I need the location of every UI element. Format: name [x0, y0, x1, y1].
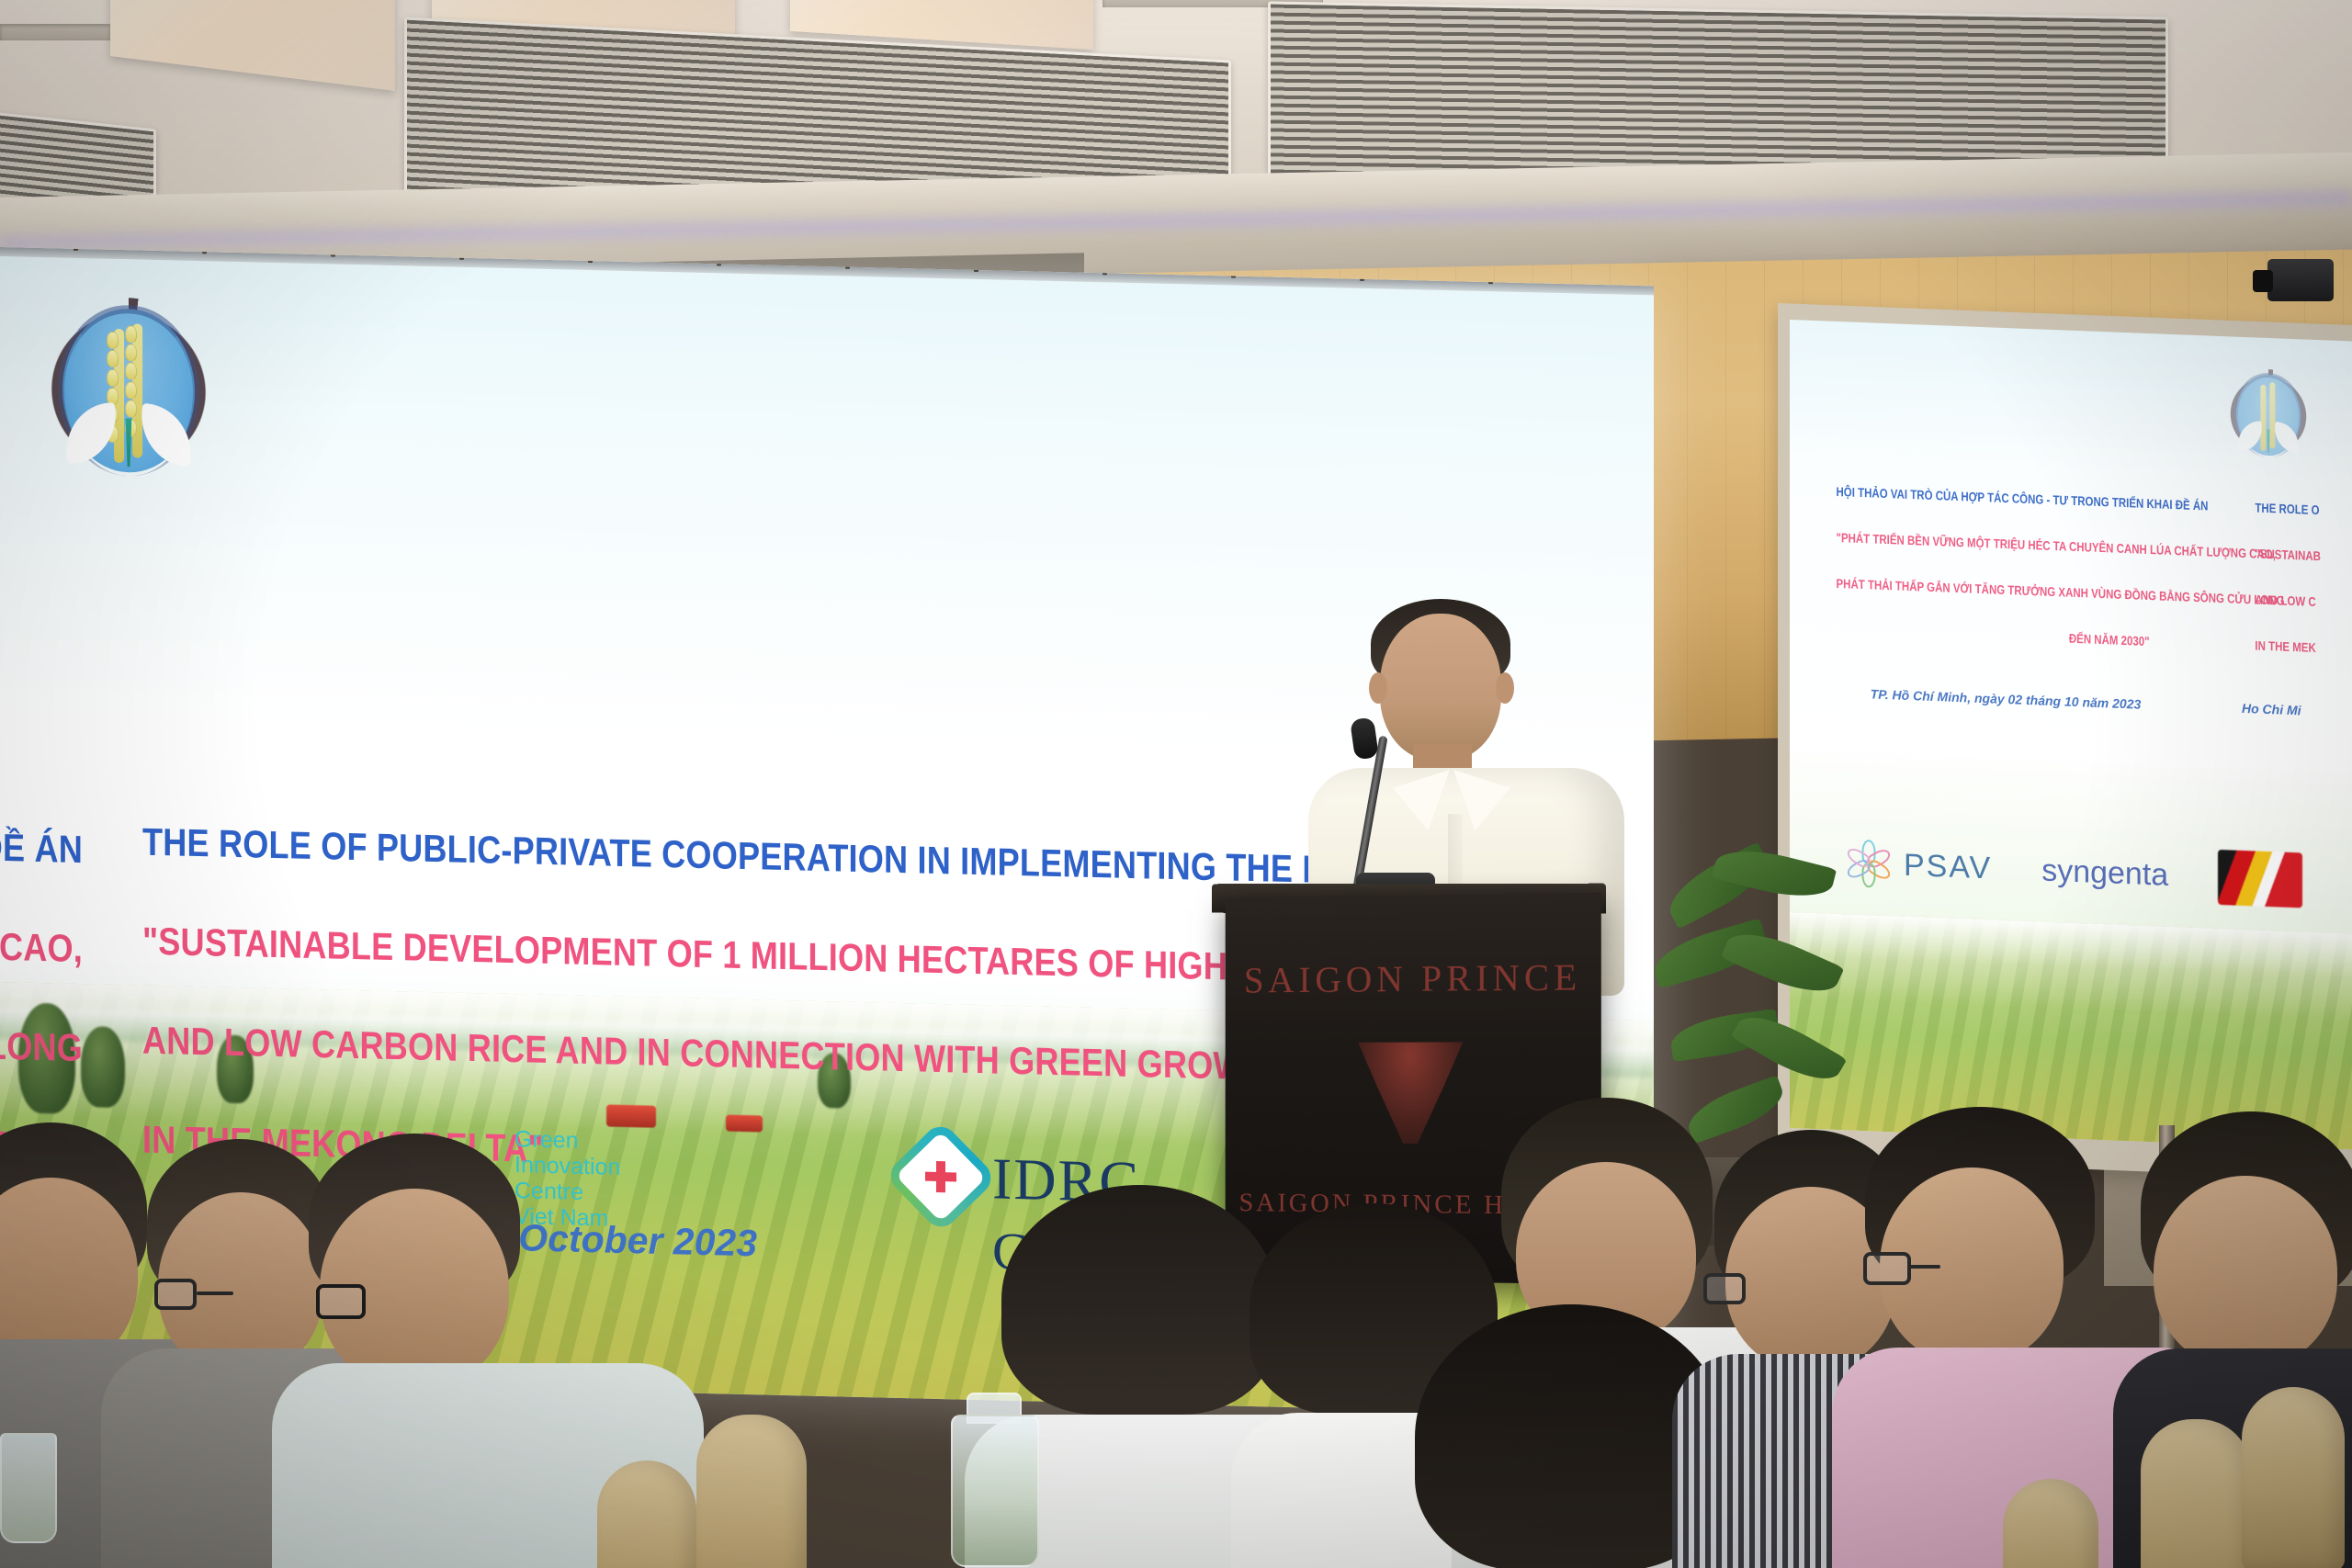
giz-flag-icon	[2218, 850, 2302, 908]
idrc-diamond-icon	[900, 1135, 981, 1218]
camera-lens-icon	[2253, 270, 2273, 292]
secondary-sponsor-logos: PSAV syngenta	[1790, 825, 2352, 919]
s2-en-date: Ho Chi Mi	[2242, 668, 2352, 754]
tree-icon	[81, 1026, 125, 1108]
slide-vn-line-3: CỬU LONG	[0, 988, 83, 1098]
slide-vn-line-1: HAI ĐỀ ÁN	[0, 790, 83, 899]
banquet-chair	[2003, 1479, 2098, 1568]
banquet-chair	[2141, 1419, 2251, 1568]
eyeglasses-bridge	[1909, 1265, 1940, 1269]
drinking-glass	[0, 1433, 57, 1543]
ministry-logo	[48, 296, 209, 485]
psav-wordmark: PSAV	[1904, 847, 1992, 886]
maple-cross-icon	[925, 1161, 956, 1193]
banquet-chair	[696, 1415, 807, 1568]
s2-en-line-3: AND LOW C	[2255, 576, 2352, 626]
eyeglasses-icon	[316, 1284, 366, 1319]
syngenta-wordmark: syngenta	[2041, 852, 2168, 893]
podium-brand-name: SAIGON PRINCE	[1226, 956, 1601, 1002]
s2-en-line-2: "SUSTAINAB	[2255, 530, 2352, 581]
secondary-projection-screen: HỘI THẢO VAI TRÒ CỦA HỢP TÁC CÔNG - TƯ T…	[1790, 320, 2352, 1150]
eyeglasses-icon	[154, 1279, 197, 1310]
podium-crest-icon	[1351, 1033, 1470, 1145]
secondary-ministry-logo	[2229, 367, 2308, 462]
speaker-ear	[1369, 672, 1387, 704]
conference-photo-scene: HAI ĐỀ ÁN ƯỢNG CAO, CỬU LONG ĂM 2030" nă…	[0, 0, 2352, 1568]
eyeglasses-icon	[1863, 1252, 1911, 1285]
slide-vn-line-2: ƯỢNG CAO,	[0, 889, 83, 998]
s2-vn-date: TP. Hồ Chí Minh, ngày 02 tháng 10 năm 20…	[1799, 650, 2212, 747]
s2-en-line-1: THE ROLE O	[2255, 484, 2352, 535]
water-carafe	[951, 1415, 1039, 1567]
speaker-head	[1380, 614, 1501, 761]
secondary-vn-column: HỘI THẢO VAI TRÒ CỦA HỢP TÁC CÔNG - TƯ T…	[1799, 467, 2212, 747]
audience-head	[2154, 1176, 2337, 1369]
ceiling-camera	[2267, 259, 2334, 301]
eyeglasses-icon	[1703, 1273, 1746, 1304]
psav-logo: PSAV	[1845, 839, 1992, 892]
secondary-en-column: THE ROLE O "SUSTAINAB AND LOW C IN THE M…	[2242, 484, 2352, 754]
audience-hair	[1001, 1185, 1277, 1415]
eyeglasses-bridge	[197, 1292, 233, 1295]
ceiling-slot	[0, 24, 110, 40]
banquet-chair	[2242, 1387, 2345, 1568]
banquet-chair	[597, 1461, 696, 1568]
s2-en-line-4: IN THE MEK	[2255, 622, 2352, 672]
speaker-ear	[1496, 672, 1514, 704]
